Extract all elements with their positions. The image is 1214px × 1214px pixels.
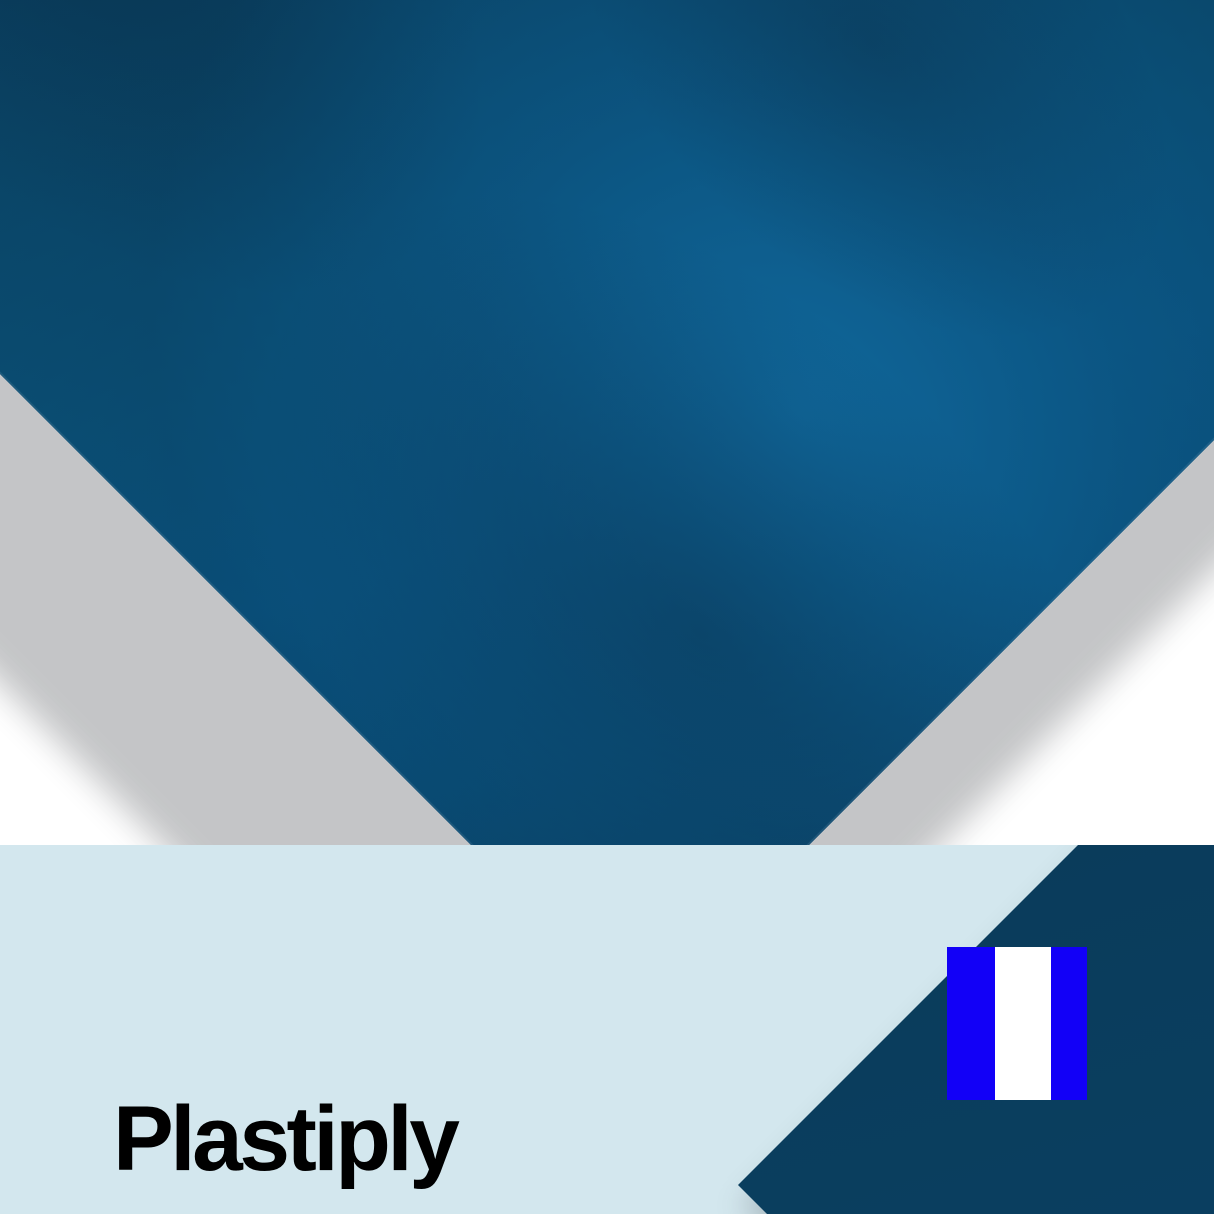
logo-band-blue-right-icon	[1051, 947, 1087, 1100]
logo-band-blue-left-icon	[947, 947, 995, 1100]
plastiply-laser-logo-icon	[947, 947, 1087, 1100]
product-photo	[0, 0, 1214, 845]
brand-wordmark: Plastiply láser	[113, 934, 456, 1214]
brand-name-line: Plastiply	[113, 1098, 456, 1180]
logo-band-white-icon	[995, 947, 1051, 1100]
product-image-canvas: Plastiply láser	[0, 0, 1214, 1214]
